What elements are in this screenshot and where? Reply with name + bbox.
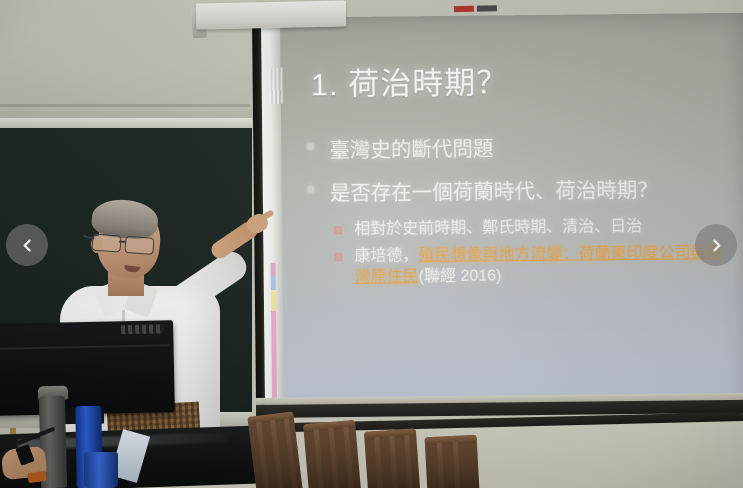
- blue-cup: [84, 452, 118, 488]
- chair-slat: [389, 436, 398, 488]
- chevron-right-icon: [708, 237, 725, 254]
- sub-bullet-item: 相對於史前時期、鄭氏時期、清治、日治: [332, 215, 736, 240]
- chair: [425, 435, 480, 488]
- citation-publisher: (聯經 2016): [419, 268, 502, 286]
- chair-slat: [404, 435, 413, 488]
- chair-slat: [314, 429, 325, 488]
- chairs: [248, 404, 628, 488]
- glasses-lens-right: [124, 236, 154, 255]
- chair: [303, 420, 361, 488]
- citation-author: 康培德，: [354, 247, 418, 265]
- chair: [247, 411, 302, 488]
- chair-slat: [437, 443, 445, 488]
- chair-top-rail: [425, 435, 477, 446]
- screen-roller-housing: [196, 0, 347, 29]
- sub-bullet-citation: 康培德，殖民想像與地方流變：荷蘭東印度公司與臺灣原住民(聯經 2016): [332, 242, 736, 288]
- monitor: [0, 320, 175, 416]
- slide-title: 1. 荷治時期？: [310, 57, 508, 104]
- chevron-left-icon: [19, 237, 36, 254]
- monitor-seam: [0, 344, 170, 350]
- chair-slat: [256, 421, 270, 488]
- previous-image-button[interactable]: [6, 224, 48, 266]
- bullet-item: 是否存在一個荷蘭時代、荷治時期？: [306, 172, 736, 207]
- bullet-item: 臺灣史的斷代問題: [305, 129, 735, 164]
- brand-logo: [454, 5, 498, 12]
- chair-slat: [453, 442, 461, 488]
- glasses-lens-left: [91, 234, 121, 253]
- monitor-brand-badge: [121, 324, 163, 334]
- projector-screen: 1. 荷治時期？ 臺灣史的斷代問題 是否存在一個荷蘭時代、荷治時期？ 相對於史前…: [252, 13, 743, 418]
- slide-bullet-list: 臺灣史的斷代問題 是否存在一個荷蘭時代、荷治時期？ 相對於史前時期、鄭氏時期、清…: [305, 129, 737, 295]
- photo-viewer: 1. 荷治時期？ 臺灣史的斷代問題 是否存在一個荷蘭時代、荷治時期？ 相對於史前…: [0, 0, 743, 488]
- next-image-button[interactable]: [695, 224, 737, 266]
- chair-slat: [374, 437, 383, 488]
- ceiling-seam: [0, 104, 250, 107]
- chair-slat: [284, 418, 298, 488]
- chair: [364, 428, 420, 488]
- chair-slat: [270, 420, 284, 488]
- chair-slat: [328, 428, 339, 488]
- chair-slat: [343, 426, 354, 488]
- slide-content: 1. 荷治時期？ 臺灣史的斷代問題 是否存在一個荷蘭時代、荷治時期？ 相對於史前…: [252, 13, 743, 418]
